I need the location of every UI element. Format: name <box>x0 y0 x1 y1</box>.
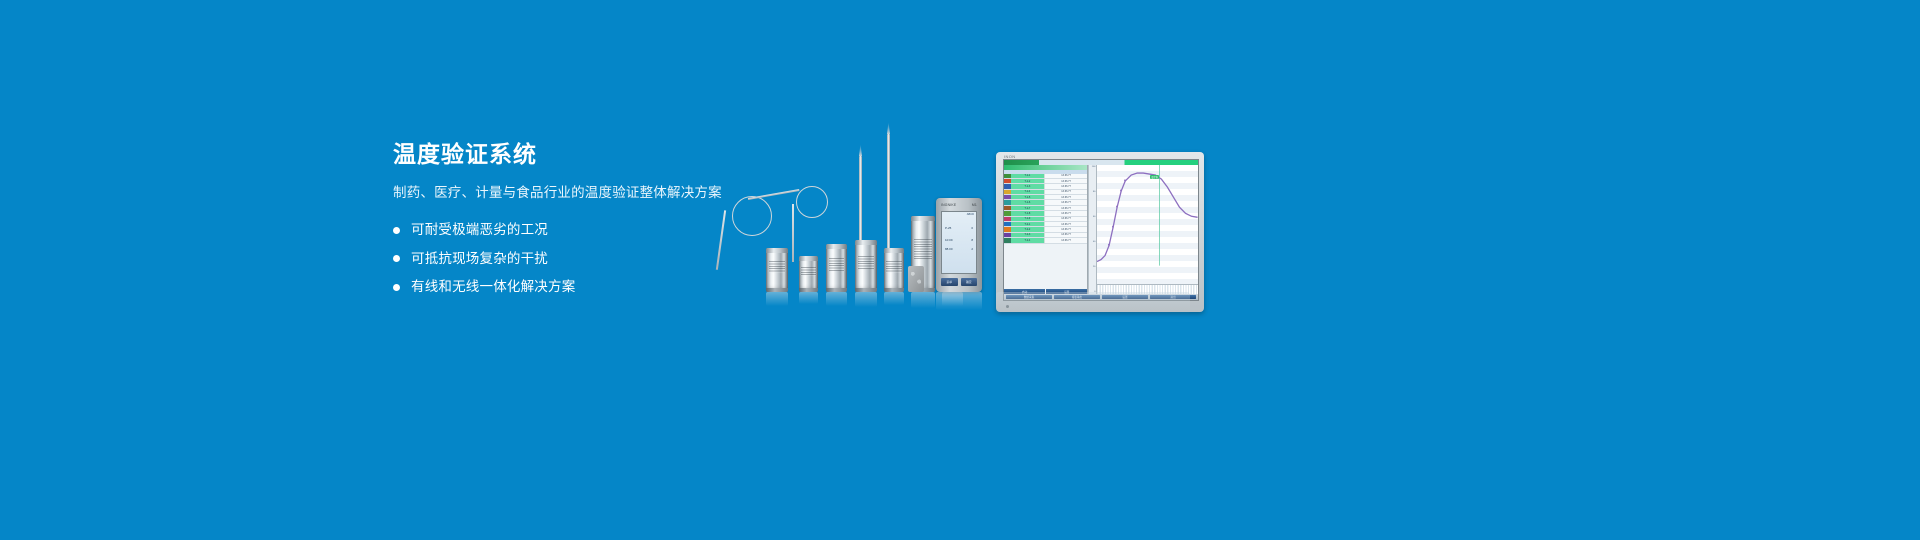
table-cell-channel: T-1-7 <box>1011 206 1045 210</box>
channel-color-swatch <box>1004 200 1011 204</box>
table-cell-channel: T-1-1 <box>1011 174 1045 178</box>
table-cell-channel: T-2-1 <box>1011 222 1045 226</box>
table-cell-value: 13.66.77 <box>1045 233 1088 237</box>
monitor-display: INON T-1-1 13.66.77 <box>996 152 1204 312</box>
chart-y-axis: 100 80 60 40 20 0 <box>1089 165 1097 294</box>
chart-plot-area <box>1097 165 1198 266</box>
handheld-screen-status: ABCD <box>967 213 974 216</box>
table-cell-value: 13.66.77 <box>1045 184 1088 188</box>
channel-color-swatch <box>1004 184 1011 188</box>
table-row: T-2-4 13.66.77 <box>1004 238 1087 243</box>
channel-color-swatch <box>1004 227 1011 231</box>
bullet-dot-icon <box>393 255 400 262</box>
y-tick: 100 <box>1092 166 1096 168</box>
table-cell-channel: T-1-3 <box>1011 184 1045 188</box>
logger-cap <box>884 248 904 253</box>
logger-reflection <box>855 292 877 307</box>
channel-color-swatch <box>1004 195 1011 199</box>
temperature-chart: 100 80 60 40 20 0 <box>1088 165 1198 294</box>
channel-color-swatch <box>1004 222 1011 226</box>
chart-annotation: 设定值 <box>1150 175 1159 179</box>
chart-series-line <box>1097 173 1198 262</box>
table-cell-value: 13.66.77 <box>1045 227 1088 231</box>
handheld-key-menu[interactable]: 菜单 <box>941 278 958 286</box>
handheld-row-left: 88.00 <box>945 247 953 251</box>
table-cell-value: 13.66.77 <box>1045 238 1088 242</box>
channel-table: T-1-1 13.66.77 T-1-2 13.66.77 T-1-3 <box>1004 174 1087 290</box>
logger-label <box>801 267 815 276</box>
table-cell-value: 13.66.77 <box>1045 179 1088 183</box>
channel-color-swatch <box>1004 190 1011 194</box>
handheld-keypad: 菜单 确定 <box>941 278 977 286</box>
product-photo-group: INGNIKE M1 ABCD P-25 0 10:09 8 88.00 2 <box>700 120 1220 320</box>
logger-reflection <box>884 292 904 305</box>
logger-cap <box>826 244 847 249</box>
table-cell-channel: T-2-4 <box>1011 238 1045 242</box>
handheld-row-right: 0 <box>971 226 973 230</box>
feature-label: 可耐受极端恶劣的工况 <box>411 223 548 237</box>
table-cell-channel: T-1-8 <box>1011 211 1045 215</box>
handheld-row-right: 2 <box>971 247 973 251</box>
data-logger-body <box>855 240 877 292</box>
table-cell-channel: T-1-2 <box>1011 179 1045 183</box>
app-body: T-1-1 13.66.77 T-1-2 13.66.77 T-1-3 <box>1004 165 1198 294</box>
y-tick: 80 <box>1093 191 1095 193</box>
handheld-brand-label: INGNIKE <box>941 203 956 207</box>
handheld-screen-row: 88.00 2 <box>945 247 973 251</box>
hero-banner: 温度验证系统 制药、医疗、计量与食品行业的温度验证整体解决方案 可耐受极端恶劣的… <box>0 0 1920 540</box>
logger-reflection <box>766 292 788 306</box>
handheld-reader: INGNIKE M1 ABCD P-25 0 10:09 8 88.00 2 <box>936 198 982 292</box>
table-cell-value: 13.66.77 <box>1045 190 1088 194</box>
handheld-screen-row: P-25 0 <box>945 226 973 230</box>
table-cell-value: 13.66.77 <box>1045 206 1088 210</box>
handheld-reflection <box>936 292 982 310</box>
handheld-brand: INGNIKE M1 <box>941 203 977 207</box>
channel-table-panel: T-1-1 13.66.77 T-1-2 13.66.77 T-1-3 <box>1004 165 1088 294</box>
coiled-probe-icon <box>796 186 828 218</box>
feature-label: 有线和无线一体化解决方案 <box>411 280 575 294</box>
handheld-key-confirm[interactable]: 确定 <box>961 278 978 286</box>
logger-label <box>886 261 901 272</box>
probe-stem-icon <box>716 210 726 270</box>
channel-color-swatch <box>1004 217 1011 221</box>
table-cell-channel: T-1-5 <box>1011 195 1045 199</box>
logger-reflection <box>799 292 818 304</box>
channel-color-swatch <box>1004 238 1011 242</box>
feature-label: 可抵抗现场复杂的干扰 <box>411 252 548 266</box>
validation-software-screen: T-1-1 13.66.77 T-1-2 13.66.77 T-1-3 <box>1003 159 1199 301</box>
handheld-row-right: 8 <box>971 238 973 242</box>
channel-color-swatch <box>1004 211 1011 215</box>
probe-connector-icon <box>748 189 799 200</box>
table-cell-value: 13.66.77 <box>1045 200 1088 204</box>
table-cell-channel: T-1-6 <box>1011 200 1045 204</box>
logger-cap <box>911 216 935 221</box>
y-tick: 60 <box>1093 216 1095 218</box>
data-logger-body <box>766 248 788 292</box>
table-cell-channel: T-2-2 <box>1011 227 1045 231</box>
bullet-dot-icon <box>393 284 400 291</box>
data-logger-body <box>826 244 847 292</box>
logger-label <box>829 258 845 270</box>
handheld-row-left: P-25 <box>945 226 951 230</box>
coiled-probe-icon <box>732 196 772 236</box>
table-cell-value: 13.66.77 <box>1045 222 1088 226</box>
logger-cap <box>799 256 818 261</box>
channel-color-swatch <box>1004 179 1011 183</box>
table-cell-channel: T-1-4 <box>1011 190 1045 194</box>
data-logger-body <box>884 248 904 292</box>
logger-label <box>914 239 932 259</box>
handheld-screen: ABCD P-25 0 10:09 8 88.00 2 <box>941 211 977 274</box>
logger-label <box>858 256 875 270</box>
monitor-reflection <box>996 292 1190 314</box>
data-logger-body <box>799 256 818 292</box>
table-cell-channel: T-1-9 <box>1011 217 1045 221</box>
logger-label <box>769 261 786 272</box>
table-cell-value: 13.66.77 <box>1045 211 1088 215</box>
y-tick: 40 <box>1093 241 1095 243</box>
sinter-block <box>908 266 924 292</box>
table-cell-value: 13.66.77 <box>1045 217 1088 221</box>
probe-stem-icon <box>792 204 794 262</box>
logger-reflection <box>911 292 935 308</box>
channel-color-swatch <box>1004 174 1011 178</box>
logger-reflection <box>826 292 847 306</box>
table-cell-value: 13.66.77 <box>1045 195 1088 199</box>
channel-color-swatch <box>1004 233 1011 237</box>
y-tick: 20 <box>1093 266 1095 268</box>
table-cell-value: 13.66.77 <box>1045 174 1088 178</box>
logger-cap <box>855 240 877 245</box>
table-cell-channel: T-2-3 <box>1011 233 1045 237</box>
handheld-row-left: 10:09 <box>945 238 953 242</box>
handheld-model-label: M1 <box>972 203 977 207</box>
channel-color-swatch <box>1004 206 1011 210</box>
handheld-screen-row: 10:09 8 <box>945 238 973 242</box>
logger-cap <box>766 248 788 253</box>
bullet-dot-icon <box>393 227 400 234</box>
